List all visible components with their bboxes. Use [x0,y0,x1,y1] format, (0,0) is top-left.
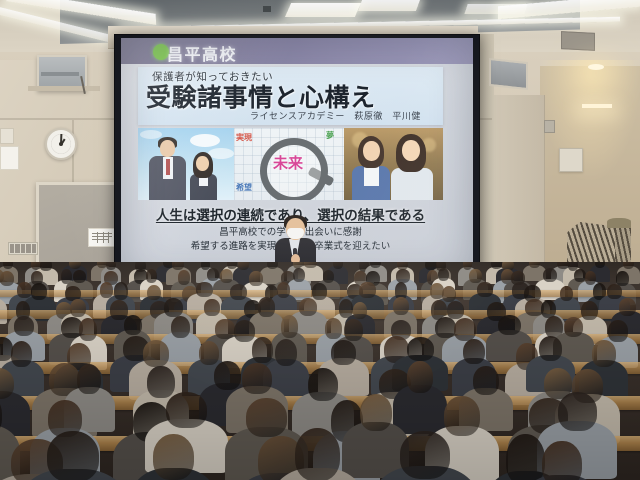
slide-presenter-names: ライセンスアカデミー 萩原徹 平川健 [250,109,421,122]
slide-label-kibou: 希望 [236,182,252,193]
audience-member-head [396,269,410,283]
audience-member-head [560,286,574,302]
audience-member-head [258,297,275,317]
audience-member-head [275,339,298,367]
wall-shelf [28,86,100,91]
audience-member-head [252,337,273,363]
audience-member-head [199,341,220,365]
wall-speaker-icon [489,58,528,90]
audience-member-head [407,361,433,393]
audience-member-head [299,298,318,316]
audience-member-head [171,316,191,338]
slide-school-name: 昌平高校 [167,41,237,65]
audience-member-head [3,262,14,269]
audience-member-head [234,320,256,342]
audience-member-head [196,282,213,297]
audience-member-head [595,262,605,268]
audience-member-head [143,340,169,367]
student-figure [391,168,433,200]
wall-seam [0,118,118,120]
switch-button[interactable] [26,244,30,253]
audience-member-head [454,318,477,341]
audience-member-head [542,441,582,480]
lecture-hall-photo: 昌平高校 保護者が知っておきたい 受験諸事情と心構え ライセンスアカデミー 萩原… [0,0,640,480]
slide-title-card: 保護者が知っておきたい 受験諸事情と心構え ライセンスアカデミー 萩原徹 平川健 [138,67,443,125]
audience-member-head [153,434,195,480]
audience-member-head [281,315,298,338]
audience-member-head [293,268,305,283]
switch-button[interactable] [10,244,14,253]
audience-seating-area [0,262,640,480]
slide-keyword-mirai: 未来 [267,152,309,173]
audience-member-head [178,270,190,285]
audience-member-head [31,283,47,300]
audience-member-head [477,282,493,297]
audience-member-head [246,398,287,437]
audience-member-head [110,300,128,320]
audience-member-head [333,262,343,269]
audience-member-head [77,364,102,394]
audience-member-head [581,301,598,321]
clock-center [59,142,63,146]
audience-member-head [69,262,82,269]
audience-member-head [469,269,481,283]
air-conditioner-vent [41,72,79,76]
audience-member-head [238,262,249,270]
slide-photo-smiling-students [344,128,443,200]
audience-member-head [79,318,97,341]
audience-member-head [100,282,113,298]
switch-button[interactable] [21,244,25,253]
audience-member-head [407,337,434,361]
ceiling-light-strip [358,0,420,11]
audience-member-head [442,286,456,303]
audience-member-head [73,270,86,283]
wall-paper-sheet [0,146,19,170]
audience-member-head [146,269,157,283]
audience-member-head [608,320,628,342]
audience-member-head [47,431,99,480]
downlight-icon [582,104,612,108]
audience-member-head [506,434,546,480]
audience-member-head [435,317,456,339]
audience-member-head [539,336,563,361]
audience-member-head [607,284,622,299]
audience-member-head [164,298,183,317]
switch-button[interactable] [32,244,36,253]
slide-label-jitsugen: 実現 [236,132,252,143]
audience-member-head [323,270,335,283]
audience-member-head [147,366,175,398]
wall-sensor-icon [544,120,555,133]
audience-member-head [308,368,338,402]
audience-member-head [124,315,142,336]
audience-member-head [220,269,234,283]
audience-member-head [242,363,272,394]
audience-member-head [312,283,327,300]
wall-box [0,128,14,144]
face-mask-icon [287,228,304,239]
downlight-icon [588,64,604,70]
audience-member-head [543,268,558,283]
audience-member-head [344,319,363,341]
audience-member-head [295,428,341,480]
switch-button[interactable] [15,244,19,253]
audience-member-head [473,366,499,395]
audience-member-head [447,301,465,319]
audience-member-head [249,271,263,286]
audience-member-head [393,297,409,315]
audience-member-head [592,340,616,367]
audience-member-head [14,316,35,336]
slide-graphic-future: 実現 夢 希望 未来 [234,128,344,200]
audience-member-head [147,285,161,301]
slide-photo-students-sky [138,128,234,200]
audience-member-head [17,282,32,298]
audience-member-head [564,317,584,337]
audience-member-head [227,262,237,269]
slide-label-yume: 夢 [326,130,334,141]
audience-member-head [360,394,393,431]
audience-member-head [214,361,242,390]
audience-member-head [444,396,480,436]
audience-member-head [230,284,247,300]
audience-member-head [585,271,597,285]
audience-member-head [359,282,375,298]
wall-light-glow [540,60,640,180]
slide-photo-row: 実現 夢 希望 未来 [138,128,443,200]
ceiling-light-strip [285,3,361,17]
audience-member-head [166,392,207,428]
wall-sign [559,148,583,172]
audience-member-head [114,282,128,299]
audience-member-head [558,392,597,431]
chair-stack-top [607,218,631,228]
audience-member-head [70,299,86,317]
audience-member-head [0,271,14,286]
ceiling-fixture-dot [263,6,271,12]
audience-member-head [463,339,485,365]
audience-member-head [304,262,317,268]
audience-member-head [11,341,33,367]
audience-member-head [207,268,219,281]
light-switch-panel[interactable] [8,242,38,255]
audience-member-head [331,340,356,365]
wall-clock [45,128,77,160]
audience-member-head [498,315,521,336]
audience-member-head [325,318,342,339]
audience-member-head [574,269,586,282]
audience-member-head [40,262,52,271]
ceiling-vent-icon [561,31,595,51]
audience-member-head [438,268,449,281]
audience-member-head [277,282,291,298]
audience-member-head [619,298,636,316]
audience-member-head [353,302,368,319]
audience-member-head [215,319,235,339]
posted-notice-sheet [88,228,116,247]
audience-member-head [400,431,450,479]
audience-member-head [204,299,219,316]
